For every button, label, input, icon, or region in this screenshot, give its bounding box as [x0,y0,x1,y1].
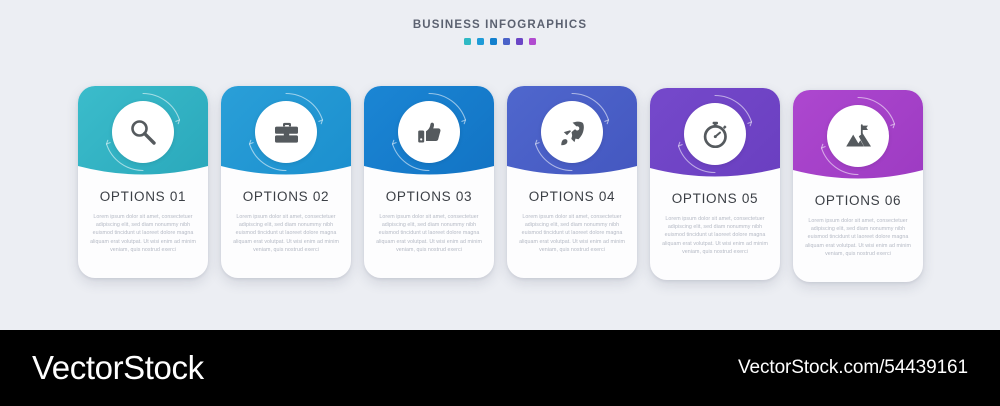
option-card-description-6: Lorem ipsum dolor sit amet, consectetuer… [804,217,912,258]
option-card-header-5 [650,88,780,180]
option-card-title-4: OPTIONS 04 [518,188,626,205]
option-card-body-3: OPTIONS 03Lorem ipsum dolor sit amet, co… [364,178,494,274]
watermark-bar: VectorStock VectorStock.com/54439161 [0,330,1000,406]
icon-disc-5 [684,103,746,165]
briefcase-icon [272,118,300,146]
vectorstock-logo: VectorStock [32,350,204,386]
option-card-5[interactable]: OPTIONS 05Lorem ipsum dolor sit amet, co… [650,88,780,280]
option-card-title-2: OPTIONS 02 [232,188,340,205]
option-card-body-2: OPTIONS 02Lorem ipsum dolor sit amet, co… [221,178,351,274]
option-card-6[interactable]: OPTIONS 06Lorem ipsum dolor sit amet, co… [793,90,923,282]
icon-disc-1 [112,101,174,163]
option-card-title-5: OPTIONS 05 [661,190,769,207]
option-card-1[interactable]: OPTIONS 01Lorem ipsum dolor sit amet, co… [78,86,208,278]
options-card-row: OPTIONS 01Lorem ipsum dolor sit amet, co… [0,0,1000,330]
option-card-2[interactable]: OPTIONS 02Lorem ipsum dolor sit amet, co… [221,86,351,278]
option-card-body-6: OPTIONS 06Lorem ipsum dolor sit amet, co… [793,182,923,278]
option-card-title-3: OPTIONS 03 [375,188,483,205]
thumbs-up-icon [415,118,443,146]
option-card-description-4: Lorem ipsum dolor sit amet, consectetuer… [518,213,626,254]
option-card-description-3: Lorem ipsum dolor sit amet, consectetuer… [375,213,483,254]
option-card-header-6 [793,90,923,182]
option-card-description-1: Lorem ipsum dolor sit amet, consectetuer… [89,213,197,254]
infographic-canvas: BUSINESS INFOGRAPHICS OPTIONS 01Lorem ip… [0,0,1000,330]
icon-disc-3 [398,101,460,163]
option-card-title-6: OPTIONS 06 [804,192,912,209]
option-card-description-2: Lorem ipsum dolor sit amet, consectetuer… [232,213,340,254]
icon-disc-6 [827,105,889,167]
mountain-flag-icon [844,122,872,150]
option-card-header-3 [364,86,494,178]
option-card-4[interactable]: OPTIONS 04Lorem ipsum dolor sit amet, co… [507,86,637,278]
icon-disc-2 [255,101,317,163]
magnifier-icon [129,118,157,146]
option-card-header-4 [507,86,637,178]
option-card-title-1: OPTIONS 01 [89,188,197,205]
icon-disc-4 [541,101,603,163]
option-card-header-1 [78,86,208,178]
option-card-description-5: Lorem ipsum dolor sit amet, consectetuer… [661,215,769,256]
option-card-body-1: OPTIONS 01Lorem ipsum dolor sit amet, co… [78,178,208,274]
option-card-header-2 [221,86,351,178]
stopwatch-icon [701,120,729,148]
option-card-3[interactable]: OPTIONS 03Lorem ipsum dolor sit amet, co… [364,86,494,278]
vectorstock-url: VectorStock.com/54439161 [738,357,968,379]
rocket-icon [558,118,586,146]
option-card-body-5: OPTIONS 05Lorem ipsum dolor sit amet, co… [650,180,780,276]
option-card-body-4: OPTIONS 04Lorem ipsum dolor sit amet, co… [507,178,637,274]
